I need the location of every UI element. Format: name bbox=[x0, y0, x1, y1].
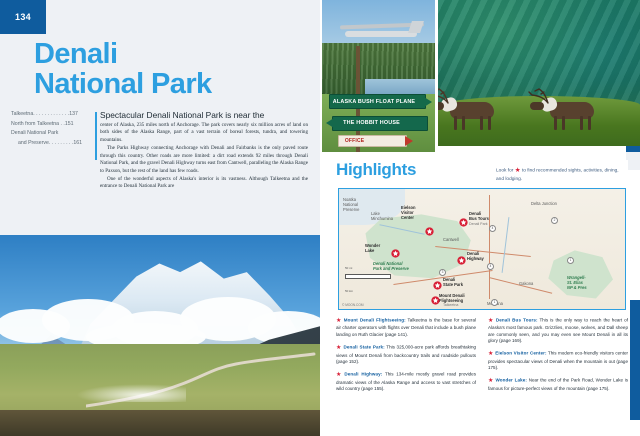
intro-block: Spectacular Denali National Park is near… bbox=[100, 110, 308, 191]
page-side-tab bbox=[630, 300, 640, 420]
float-plane-weathervane-icon bbox=[340, 18, 424, 45]
arrow-left-icon bbox=[326, 118, 334, 128]
map-label-wonder-lake: WonderLake bbox=[365, 243, 380, 253]
highlight-item: ★Wonder Lake: Near the end of the Park R… bbox=[488, 377, 628, 392]
map-route-shield: 4 bbox=[489, 225, 496, 232]
map-route-shield: 1 bbox=[491, 299, 498, 306]
page-edge-bar-gap bbox=[626, 152, 640, 170]
map-label-mount-denali-flightseeing: Mount DenaliFlightseeing bbox=[439, 293, 465, 303]
intro-lede: Spectacular Denali National Park is near… bbox=[100, 110, 308, 121]
body-paragraph: center of Alaska, 235 miles north of Anc… bbox=[100, 122, 308, 145]
highlight-item: ★Denali State Park: This 325,000-acre pa… bbox=[336, 344, 476, 366]
highlight-label: Denali Bus Tours: bbox=[496, 317, 538, 322]
map-scale-bar: 50 mi 50 km bbox=[345, 256, 391, 297]
map-scale-label: 50 km bbox=[345, 289, 353, 293]
highlight-label: Mount Denali Flightseeing: bbox=[344, 317, 406, 322]
map-star-marker[interactable] bbox=[425, 223, 434, 232]
star-icon: ★ bbox=[336, 371, 343, 378]
photo-foreground-shadow bbox=[0, 410, 320, 436]
star-icon: ★ bbox=[515, 167, 521, 174]
toc-label: Talkeetna bbox=[11, 111, 33, 117]
page-number-tab: 134 bbox=[0, 0, 46, 34]
highlight-item: ★Eielson Visitor Center: This modern eco… bbox=[488, 350, 628, 372]
body-paragraph: One of the wonderful aspects of Alaska's… bbox=[100, 176, 308, 191]
right-page: ALASKA BUSH FLOAT PLANE THE HOBBIT HOUSE… bbox=[320, 0, 640, 436]
table-of-contents: Talkeetna. . . . . . . . . . . . .137 No… bbox=[11, 110, 91, 149]
highlight-item: ★Denali Bus Tours: This is the only way … bbox=[488, 317, 628, 345]
map-route-shield: 3 bbox=[439, 269, 446, 276]
photo-road-dust bbox=[76, 384, 186, 402]
sign-text: OFFICE bbox=[345, 138, 365, 144]
legend-note-prefix: Look for bbox=[496, 169, 513, 174]
map-label-denali-state-park: DenaliState Park bbox=[443, 277, 463, 287]
map-label: NoatkaNationalPreserve bbox=[343, 197, 359, 212]
arrow-right-icon bbox=[405, 136, 413, 146]
toc-page: 137 bbox=[69, 111, 78, 117]
toc-page: 161 bbox=[73, 140, 82, 146]
map-route-shield: 2 bbox=[551, 217, 558, 224]
antler-icon bbox=[528, 86, 552, 104]
star-icon: ★ bbox=[488, 350, 494, 357]
guidebook-spread: 134 Denali National Park Talkeetna. . . … bbox=[0, 0, 640, 436]
toc-item[interactable]: Denali National Park bbox=[11, 129, 91, 139]
highlights-column-right: ★Denali Bus Tours: This is the only way … bbox=[488, 312, 628, 398]
toc-dots: . . . . . . . . . . . . . bbox=[33, 111, 69, 117]
highlight-item: ★Denali Highway: This 134-mile mostly gr… bbox=[336, 371, 476, 393]
map-highway bbox=[489, 195, 490, 299]
highlight-label: Denali State Park: bbox=[343, 344, 384, 349]
antler-icon bbox=[438, 86, 452, 104]
star-icon: ★ bbox=[488, 377, 494, 384]
sign-hobbit-house: THE HOBBIT HOUSE bbox=[332, 116, 428, 131]
highlights-section: Highlights Look for ★ to find recommende… bbox=[336, 160, 628, 422]
map-label-wrangell: Wrangell-St. EliasNP & Pres bbox=[567, 275, 587, 290]
map-label-denali-bus-tours: DenaliBus ToursDenali Park bbox=[469, 211, 489, 227]
toc-dots: . . . . . . . . . bbox=[49, 140, 74, 146]
star-icon: ★ bbox=[336, 317, 342, 324]
intro-accent-rule bbox=[95, 112, 97, 160]
toc-item[interactable]: and Preserve. . . . . . . . .161 bbox=[11, 139, 91, 149]
highlight-label: Denali Highway: bbox=[344, 372, 382, 377]
map-route-shield: 4 bbox=[487, 263, 494, 270]
toc-item[interactable]: North from Talkeetna . .151 bbox=[11, 120, 91, 130]
toc-label: Denali National Park bbox=[11, 130, 58, 136]
page-number: 134 bbox=[15, 12, 31, 22]
map-label: Gakona bbox=[519, 281, 533, 286]
highlights-legend-note: Look for ★ to find recommended sights, a… bbox=[496, 166, 624, 183]
page-title: Denali National Park bbox=[34, 40, 304, 99]
map-label: Delta Junction bbox=[531, 201, 557, 206]
highlights-map[interactable]: NoatkaNationalPreserve LakeMinchumina Ei… bbox=[338, 188, 626, 310]
sign-text: ALASKA BUSH FLOAT PLANE bbox=[333, 99, 415, 105]
photo-denali-park-road bbox=[0, 235, 320, 436]
map-credit: © MOON.COM bbox=[342, 303, 363, 307]
arrow-right-icon bbox=[424, 97, 432, 107]
sign-office: OFFICE bbox=[338, 135, 407, 147]
toc-item[interactable]: Talkeetna. . . . . . . . . . . . .137 bbox=[11, 110, 91, 120]
sign-alaska-bush-float-plane: ALASKA BUSH FLOAT PLANE bbox=[329, 94, 427, 109]
map-scale-label: 50 mi bbox=[345, 266, 352, 270]
photo-float-plane-signs: ALASKA BUSH FLOAT PLANE THE HOBBIT HOUSE… bbox=[322, 0, 435, 152]
map-star-marker[interactable] bbox=[459, 214, 468, 223]
star-icon: ★ bbox=[336, 344, 342, 351]
highlight-item: ★Mount Denali Flightseeing: Talkeetna is… bbox=[336, 317, 476, 339]
sign-text: THE HOBBIT HOUSE bbox=[343, 120, 400, 126]
highlights-columns: ★Mount Denali Flightseeing: Talkeetna is… bbox=[336, 312, 628, 398]
map-star-marker[interactable] bbox=[391, 245, 400, 254]
map-route-shield: 1 bbox=[567, 257, 574, 264]
map-label-denali-highway: DenaliHighway bbox=[467, 251, 484, 261]
toc-label: North from Talkeetna bbox=[11, 121, 59, 127]
map-star-marker[interactable] bbox=[431, 292, 440, 301]
map-star-marker[interactable] bbox=[457, 252, 466, 261]
map-label-eielson-visitor-center: EielsonVisitorCenter bbox=[401, 205, 416, 220]
chapter-title-line1: Denali bbox=[34, 38, 117, 70]
body-paragraph: The Parks Highway connecting Anchorage w… bbox=[100, 145, 308, 176]
highlight-label: Eielson Visitor Center: bbox=[495, 351, 546, 356]
star-icon: ★ bbox=[488, 317, 494, 324]
map-label: LakeMinchumina bbox=[371, 211, 393, 221]
toc-label: and Preserve bbox=[18, 140, 49, 146]
map-label: Cantwell bbox=[443, 237, 459, 242]
chapter-title-line2: National Park bbox=[34, 70, 304, 100]
map-star-marker[interactable] bbox=[433, 277, 442, 286]
photo-caribou bbox=[438, 0, 640, 146]
highlights-column-left: ★Mount Denali Flightseeing: Talkeetna is… bbox=[336, 312, 476, 398]
map-label: Talkeetna bbox=[443, 303, 458, 307]
toc-page: 151 bbox=[65, 121, 74, 127]
left-page: 134 Denali National Park Talkeetna. . . … bbox=[0, 0, 320, 436]
highlight-label: Wonder Lake: bbox=[495, 378, 527, 383]
